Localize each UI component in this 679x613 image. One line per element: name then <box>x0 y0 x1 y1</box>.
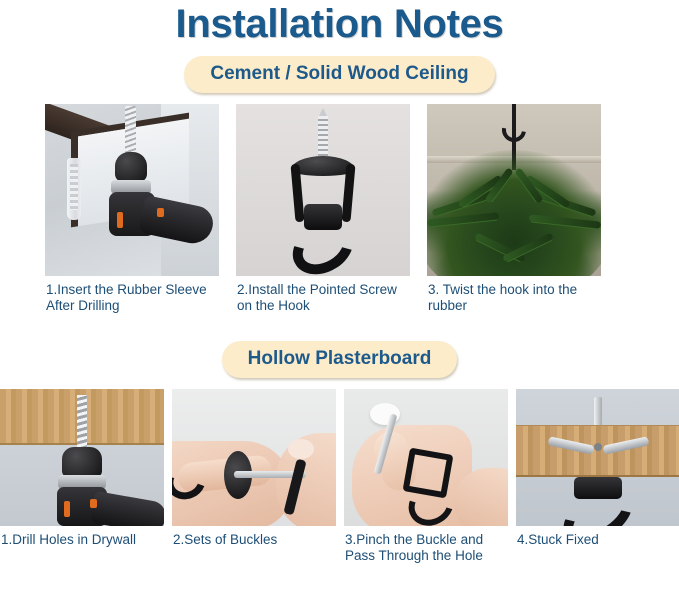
step-image-pinch-buckle-pass-through-hole <box>344 389 508 526</box>
drill-handle-shape <box>90 491 164 526</box>
step-caption: 1.Insert the Rubber Sleeve After Drillin… <box>45 282 219 315</box>
section-heading-plasterboard-wrap: Hollow Plasterboard <box>0 341 679 378</box>
drill-accent-1 <box>64 501 70 517</box>
step-card-plasterboard-3: 3.Pinch the Buckle and Pass Through the … <box>344 389 508 565</box>
step-caption: 3.Pinch the Buckle and Pass Through the … <box>344 532 508 565</box>
step-image-drill-holes-in-drywall <box>0 389 164 526</box>
section-heading-plasterboard: Hollow Plasterboard <box>222 341 458 378</box>
screw-bit-shape <box>125 106 136 158</box>
drill-chuck-shape <box>62 447 102 477</box>
step-card-cement-1: 1.Insert the Rubber Sleeve After Drillin… <box>45 104 219 315</box>
step-image-sets-of-buckles <box>172 389 336 526</box>
page-title: Installation Notes <box>0 0 679 44</box>
step-image-stuck-fixed <box>516 389 679 526</box>
wood-board-shape <box>516 425 679 477</box>
step-image-twist-hook-into-rubber <box>427 104 601 276</box>
step-card-cement-3: 3. Twist the hook into the rubber <box>427 104 601 315</box>
step-card-plasterboard-4: 4.Stuck Fixed <box>516 389 679 565</box>
installation-notes-page: Installation Notes Cement / Solid Wood C… <box>0 0 679 613</box>
section-heading-cement-wrap: Cement / Solid Wood Ceiling <box>0 56 679 93</box>
step-caption: 2.Sets of Buckles <box>172 532 336 548</box>
step-image-insert-rubber-sleeve <box>45 104 219 276</box>
drill-accent-2 <box>90 499 97 508</box>
step-image-install-pointed-screw <box>236 104 410 276</box>
rubber-sleeve-anchor-shape <box>67 158 81 220</box>
pointed-screw-shape <box>318 116 328 160</box>
step-caption: 1.Drill Holes in Drywall <box>0 532 164 548</box>
step-card-cement-2: 2.Install the Pointed Screw on the Hook <box>236 104 410 315</box>
step-card-plasterboard-1: 1.Drill Holes in Drywall <box>0 389 164 565</box>
drill-chuck-shape <box>115 152 147 182</box>
section-plasterboard-steps: 1.Drill Holes in Drywall 2.Sets of Buckl… <box>0 389 679 565</box>
fingernail-shape <box>288 439 314 459</box>
drill-bit-shape <box>77 395 87 453</box>
step-caption: 4.Stuck Fixed <box>516 532 679 548</box>
step-caption: 3. Twist the hook into the rubber <box>427 282 601 315</box>
drill-accent-2 <box>157 208 164 217</box>
toggle-pivot-shape <box>594 443 602 451</box>
step-caption: 2.Install the Pointed Screw on the Hook <box>236 282 410 315</box>
section-cement-steps: 1.Insert the Rubber Sleeve After Drillin… <box>0 104 679 315</box>
section-heading-cement: Cement / Solid Wood Ceiling <box>184 56 494 93</box>
drill-accent-1 <box>117 212 123 228</box>
step-card-plasterboard-2: 2.Sets of Buckles <box>172 389 336 565</box>
